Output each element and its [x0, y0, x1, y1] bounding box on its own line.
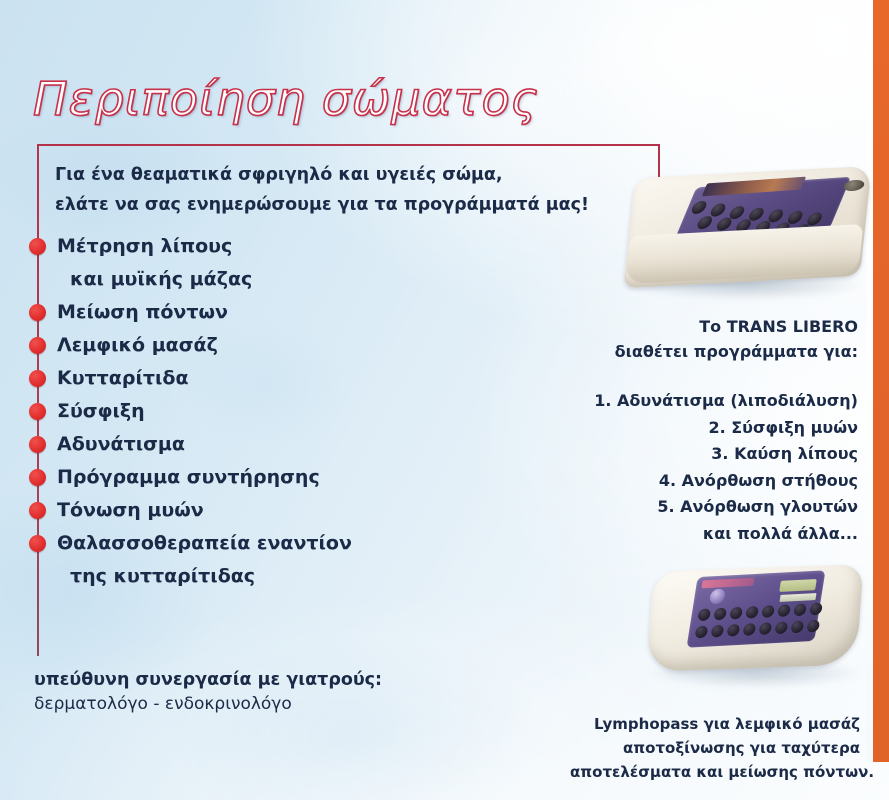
trans-libero-heading: Το TRANS LIBERO διαθέτει προγράμματα για…	[600, 314, 858, 364]
device-knob-icon	[695, 216, 714, 230]
device-display	[779, 579, 817, 592]
brochure-page: Περιποίηση σώματος Για ένα θεαματικά σφρ…	[0, 0, 889, 800]
device-knob-icon	[709, 203, 728, 217]
device-button-icon	[761, 605, 775, 618]
list-item-label: Σύσφιξη	[57, 395, 520, 428]
list-item: Μείωση πόντων	[0, 296, 520, 329]
bullet-dot-icon	[29, 502, 46, 519]
lymphopass-device-image	[640, 562, 880, 707]
lymphopass-caption: Lymphopass για λεμφικό μασάζ αποτοξίνωση…	[570, 712, 860, 784]
list-item-label: Μείωση πόντων	[57, 296, 520, 329]
device-button-icon	[790, 621, 804, 634]
device-button-icon	[713, 608, 727, 621]
bullet-dot-icon	[29, 238, 46, 255]
device-button-icon	[774, 621, 788, 634]
bullet-dot-icon	[29, 403, 46, 420]
list-item: Θαλασσοθεραπεία εναντίον της κυτταρίτιδα…	[0, 527, 520, 593]
device-button-icon	[726, 624, 740, 637]
list-item-label: Κυτταρίτιδα	[57, 362, 520, 395]
device-knob-icon	[715, 217, 734, 231]
device-button-icon	[694, 626, 708, 639]
trans-libero-heading-line-1: Το TRANS LIBERO	[600, 314, 858, 339]
frame-rule-top	[37, 144, 659, 146]
list-item: Λεμφικό μασάζ	[0, 329, 520, 362]
bullet-dot-icon	[29, 304, 46, 321]
doctors-note-heading: υπεύθυνη συνεργασία με γιατρούς:	[34, 668, 464, 692]
device-button-icon	[710, 625, 724, 638]
lymphopass-caption-line-3: αποτελέσματα και μείωσης πόντων.	[570, 760, 860, 784]
bullet-dot-icon	[29, 469, 46, 486]
page-title: Περιποίηση σώματος	[33, 72, 539, 126]
intro-line-2: ελάτε να σας ενημερώσουμε για τα προγράμ…	[55, 190, 655, 220]
device-button-icon	[729, 607, 743, 620]
doctors-note-detail: δερματολόγο - ενδοκρινολόγο	[34, 692, 464, 717]
device-knob-icon	[690, 201, 709, 215]
device-button-icon	[758, 622, 772, 635]
bullet-dot-icon	[29, 370, 46, 387]
program-list-more: και πολλά άλλα...	[585, 521, 858, 548]
list-item-label: Αδυνάτισμα	[57, 428, 520, 461]
doctors-note: υπεύθυνη συνεργασία με γιατρούς: δερματο…	[34, 668, 464, 717]
bullet-dot-icon	[29, 535, 46, 552]
list-item-label: Τόνωση μυών	[57, 494, 520, 527]
device-button-icon	[809, 603, 823, 616]
list-item: Τόνωση μυών	[0, 494, 520, 527]
trans-libero-heading-line-2: διαθέτει προγράμματα για:	[600, 339, 858, 364]
intro-line-1: Για ένα θεαματικά σφριγηλό και υγειές σώ…	[55, 160, 655, 190]
list-item-label-continued: της κυτταρίτιδας	[70, 560, 520, 593]
program-list-item: 3. Καύση λίπους	[585, 441, 858, 468]
list-item-label: Πρόγραμμα συντήρησης	[57, 461, 520, 494]
device-button-icon	[697, 608, 711, 621]
trans-libero-device-image	[622, 160, 880, 315]
list-item: Μέτρηση λίπους και μυϊκής μάζας	[0, 230, 520, 296]
list-item: Κυτταρίτιδα	[0, 362, 520, 395]
program-list-item: 2. Σύσφιξη μυών	[585, 415, 858, 442]
list-item-label-continued: και μυϊκής μάζας	[70, 263, 520, 296]
device-button-icon	[745, 606, 759, 619]
device-button-icon	[793, 603, 807, 616]
services-bullet-list: Μέτρηση λίπους και μυϊκής μάζας Μείωση π…	[0, 230, 520, 593]
bullet-dot-icon	[29, 436, 46, 453]
device-button-group	[691, 602, 825, 647]
program-list-item: 4. Ανόρθωση στήθους	[585, 468, 858, 495]
list-item-label: Μέτρηση λίπους	[57, 230, 520, 263]
list-item: Πρόγραμμα συντήρησης	[0, 461, 520, 494]
list-item: Αδυνάτισμα	[0, 428, 520, 461]
device-button-icon	[742, 623, 756, 636]
intro-paragraph: Για ένα θεαματικά σφριγηλό και υγειές σώ…	[55, 160, 655, 220]
bullet-dot-icon	[29, 337, 46, 354]
lymphopass-caption-line-1: Lymphopass για λεμφικό μασάζ	[570, 712, 860, 736]
trans-libero-program-list: 1. Αδυνάτισμα (λιποδιάλυση) 2. Σύσφιξη μ…	[585, 388, 858, 547]
lymphopass-caption-line-2: αποτοξίνωσης για ταχύτερα	[570, 736, 860, 760]
list-item: Σύσφιξη	[0, 395, 520, 428]
list-item-label: Λεμφικό μασάζ	[57, 329, 520, 362]
device-button-icon	[777, 604, 791, 617]
list-item-label: Θαλασσοθεραπεία εναντίον	[57, 527, 520, 560]
program-list-item: 1. Αδυνάτισμα (λιποδιάλυση)	[585, 388, 858, 415]
device-button-icon	[806, 620, 820, 633]
program-list-item: 5. Ανόρθωση γλουτών	[585, 494, 858, 521]
